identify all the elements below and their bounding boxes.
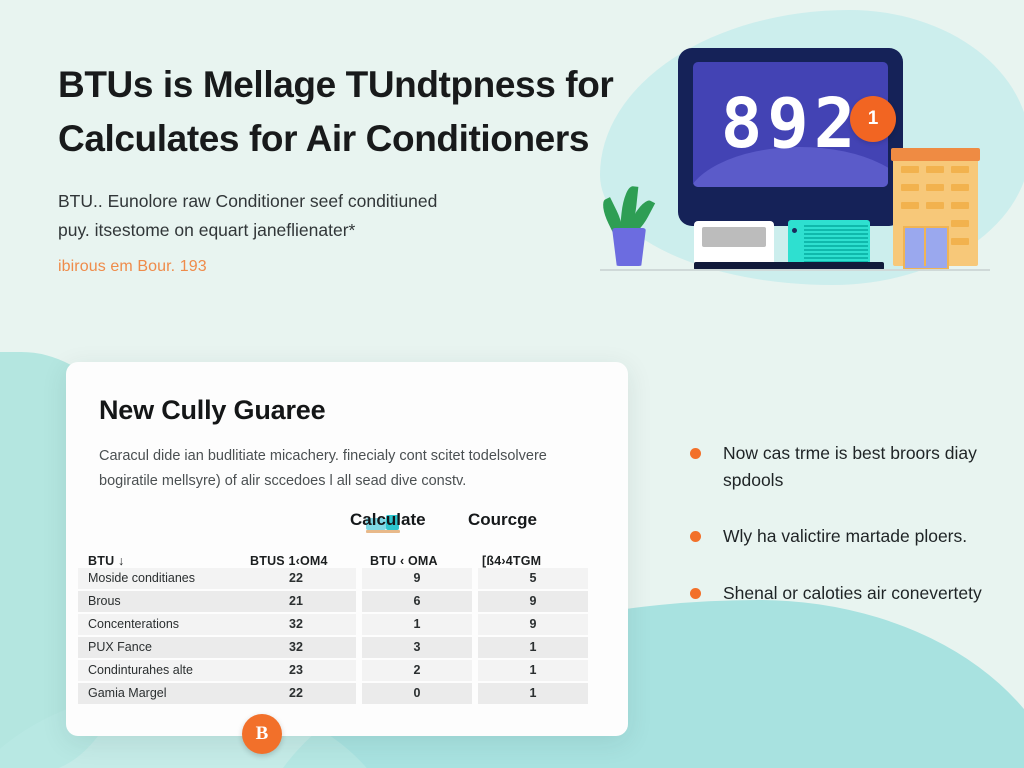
list-item-label: Shenal or caloties air conevertety: [723, 580, 990, 607]
air-conditioner-grill: [804, 223, 868, 265]
cell-name: PUX Fance: [78, 637, 238, 658]
card-description-line-1: Caracul dide ian budlitiate micachery. f…: [99, 448, 547, 464]
printer-slot: [702, 227, 766, 247]
cell-value-1: 32: [236, 637, 356, 658]
page-title-line-1: BTUs is Mellage TUndtpness for: [58, 64, 613, 105]
cell-name: Concenterations: [78, 614, 238, 635]
cell-value-3: 5: [478, 568, 588, 589]
cell-value-2: 0: [362, 683, 472, 704]
hero-kicker: ibirous em Bour. 193: [58, 258, 638, 276]
table-row[interactable]: PUX Fance 32 3 1: [78, 637, 616, 660]
column-header-btu-oma[interactable]: BTU ‹ OMA: [370, 554, 438, 568]
building-window: [951, 166, 969, 173]
column-header-btu[interactable]: BTU ↓: [88, 554, 124, 568]
data-table: Calculate Courcge BTU ↓ BTUS 1‹OM4 BTU ‹…: [78, 510, 616, 706]
cell-value-1: 22: [236, 568, 356, 589]
table-body: Moside conditianes 22 9 5 Brous 21 6 9 C…: [78, 568, 616, 706]
page-title: BTUs is Mellage TUndtpness for Calculate…: [58, 58, 638, 165]
table-row[interactable]: Condinturahes alte 23 2 1: [78, 660, 616, 683]
bullet-dot-icon: [690, 448, 701, 459]
table-row[interactable]: Moside conditianes 22 9 5: [78, 568, 616, 591]
building-window: [901, 202, 919, 209]
column-header-btus[interactable]: BTUS 1‹OM4: [250, 554, 328, 568]
table-row[interactable]: Gamia Margel 22 0 1: [78, 683, 616, 706]
list-item: Wly ha valictire martade ploers.: [690, 523, 990, 550]
list-item-label: Now cas trme is best broors diay spdools: [723, 440, 990, 493]
cell-value-2: 3: [362, 637, 472, 658]
hero-subtitle: BTU.. Eunolore raw Conditioner seef cond…: [58, 187, 638, 244]
bullet-list: Now cas trme is best broors diay spdools…: [690, 440, 990, 636]
cell-name: Gamia Margel: [78, 683, 238, 704]
cell-value-1: 32: [236, 614, 356, 635]
building-window: [951, 238, 969, 245]
building-window: [926, 166, 944, 173]
cell-value-3: 1: [478, 637, 588, 658]
cell-name: Brous: [78, 591, 238, 612]
cell-value-1: 21: [236, 591, 356, 612]
table-header-row: Calculate Courcge BTU ↓ BTUS 1‹OM4 BTU ‹…: [78, 510, 616, 568]
content-card: New Cully Guaree Caracul dide ian budlit…: [66, 362, 628, 736]
cell-name: Moside conditianes: [78, 568, 238, 589]
table-row[interactable]: Brous 21 6 9: [78, 591, 616, 614]
cell-name: Condinturahes alte: [78, 660, 238, 681]
hero-subtitle-line-1: BTU.. Eunolore raw Conditioner seef cond…: [58, 191, 437, 211]
building-window: [926, 202, 944, 209]
card-description-line-2: bogiratile mellsyre) of alir sccedoes l …: [99, 473, 466, 489]
card-heading: New Cully Guaree: [99, 395, 325, 426]
building-door: [903, 226, 949, 270]
building-window: [951, 202, 969, 209]
cell-value-2: 9: [362, 568, 472, 589]
column-caption-courcge: Courcge: [468, 510, 537, 530]
hero-section: BTUs is Mellage TUndtpness for Calculate…: [58, 58, 638, 276]
list-item: Shenal or caloties air conevertety: [690, 580, 990, 607]
potted-plant-icon: [612, 228, 646, 266]
cell-value-3: 1: [478, 660, 588, 681]
table-row[interactable]: Concenterations 32 1 9: [78, 614, 616, 637]
building-window: [926, 184, 944, 191]
column-caption-calculate: Calculate: [350, 510, 426, 530]
notification-badge: 1: [850, 96, 896, 142]
cell-value-1: 23: [236, 660, 356, 681]
infographic-canvas: BTUs is Mellage TUndtpness for Calculate…: [0, 0, 1024, 768]
building-window: [901, 184, 919, 191]
cell-value-2: 6: [362, 591, 472, 612]
building-door-divider: [924, 226, 926, 266]
card-description: Caracul dide ian budlitiate micachery. f…: [99, 444, 599, 494]
building-roof: [891, 148, 980, 161]
ground-line: [600, 269, 990, 271]
hero-subtitle-line-2: puy. itsestome on equart janeflienater*: [58, 220, 355, 240]
cell-value-3: 1: [478, 683, 588, 704]
cell-value-1: 22: [236, 683, 356, 704]
cell-value-3: 9: [478, 591, 588, 612]
card-badge[interactable]: B: [242, 714, 282, 754]
air-conditioner-indicator: [792, 228, 797, 233]
list-item: Now cas trme is best broors diay spdools: [690, 440, 990, 493]
building-window: [901, 166, 919, 173]
hero-illustration: 892 1: [598, 38, 998, 283]
cell-value-3: 9: [478, 614, 588, 635]
cell-value-2: 2: [362, 660, 472, 681]
column-header-tgm[interactable]: [ß4›4TGM: [482, 554, 541, 568]
list-item-label: Wly ha valictire martade ploers.: [723, 523, 990, 550]
bullet-dot-icon: [690, 531, 701, 542]
page-title-line-2: Calculates for Air Conditioners: [58, 118, 589, 159]
bullet-dot-icon: [690, 588, 701, 599]
building-window: [951, 184, 969, 191]
cell-value-2: 1: [362, 614, 472, 635]
building-window: [951, 220, 969, 227]
